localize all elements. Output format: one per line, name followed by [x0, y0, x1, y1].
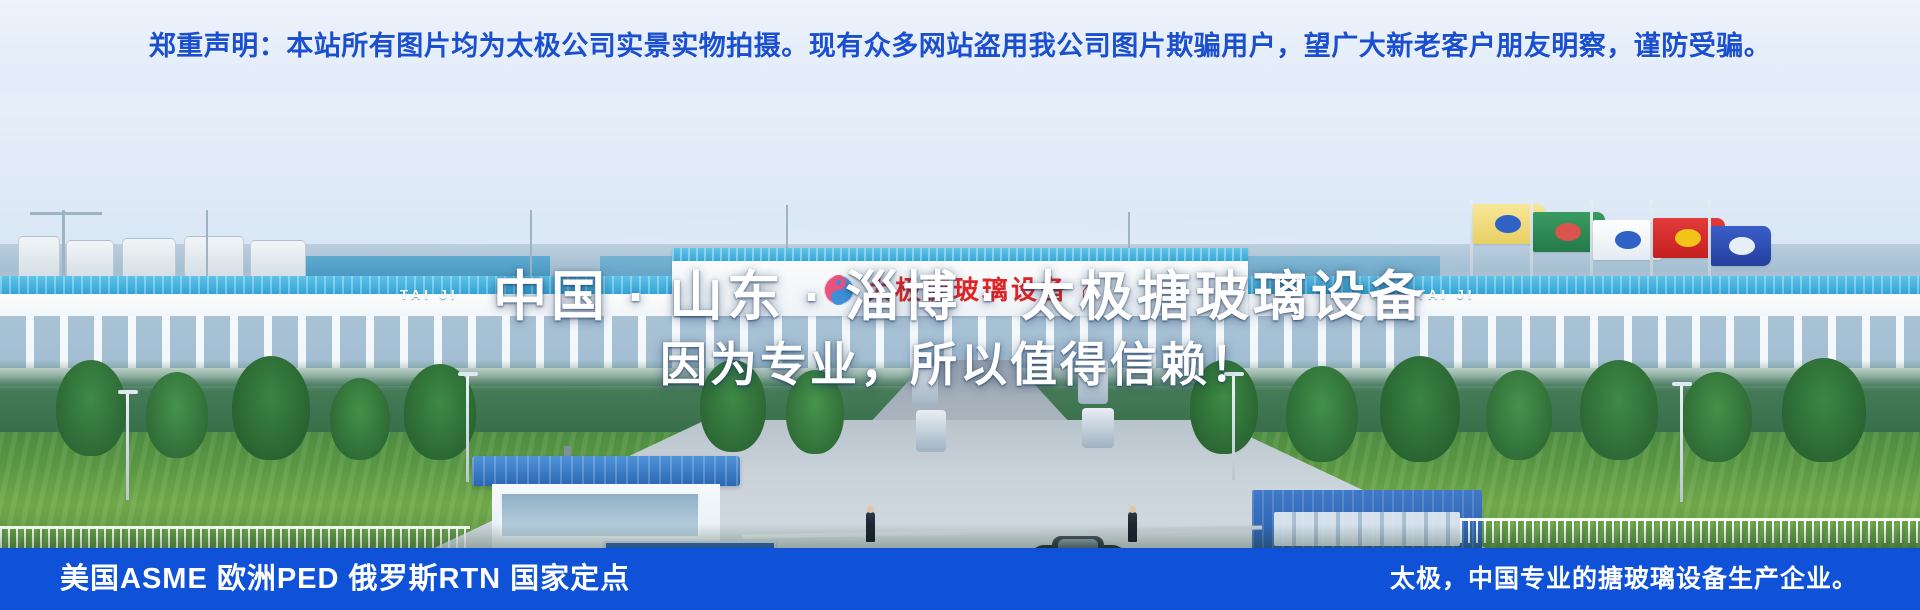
notice-strip: 郑重声明：本站所有图片均为太极公司实景实物拍摄。现有众多网站盗用我公司图片欺骗用… — [0, 0, 1920, 92]
company-sign-mark: ⌂ — [1081, 278, 1096, 303]
flag-emblem-5 — [1729, 237, 1755, 255]
pediment-roof-trim — [672, 248, 1248, 261]
banner-page: 太极搪玻璃设备 ⌂ TAI JI TAI JI — [0, 0, 1920, 610]
tree-right-5 — [1682, 372, 1752, 462]
tree-left-4 — [330, 378, 390, 460]
tree-right-1 — [1286, 366, 1358, 462]
factory-photo: 太极搪玻璃设备 ⌂ TAI JI TAI JI — [0, 60, 1920, 550]
photo-bottom-shade — [0, 524, 1920, 550]
yin-yang-taiji-logo — [824, 275, 854, 305]
truck-2 — [1082, 408, 1114, 448]
roof-label-right: TAI JI — [1417, 287, 1475, 302]
bottom-bar: 美国ASME 欧洲PED 俄罗斯RTN 国家定点 太极，中国专业的搪玻璃设备生产… — [0, 548, 1920, 610]
flag-emblem-3 — [1615, 231, 1641, 249]
street-lamp-1 — [466, 372, 469, 482]
tree-left-1 — [56, 360, 126, 456]
tree-right-6 — [1782, 358, 1866, 462]
certifications-text: 美国ASME 欧洲PED 俄罗斯RTN 国家定点 — [60, 565, 630, 594]
bus-1 — [912, 366, 938, 406]
building-pediment: 太极搪玻璃设备 ⌂ — [672, 248, 1248, 316]
company-sign: 太极搪玻璃设备 ⌂ — [672, 267, 1248, 313]
truck-1 — [1078, 360, 1108, 404]
notice-text: 郑重声明：本站所有图片均为太极公司实景实物拍摄。现有众多网站盗用我公司图片欺骗用… — [149, 33, 1772, 60]
yinyang-dot-lower — [836, 295, 841, 300]
tree-right-3 — [1486, 370, 1552, 460]
street-lamp-3 — [1680, 382, 1683, 502]
tree-left-2 — [146, 372, 208, 458]
tree-center-1 — [700, 360, 766, 452]
tree-center-2 — [786, 370, 844, 454]
crane-jib — [30, 212, 102, 215]
tree-left-3 — [232, 356, 310, 460]
bus-2 — [916, 410, 946, 452]
yinyang-dot-upper — [836, 280, 841, 285]
flag-blue — [1711, 226, 1771, 266]
street-lamp-4 — [126, 390, 129, 500]
tree-right-4 — [1580, 360, 1658, 460]
slogan-text: 太极，中国专业的搪玻璃设备生产企业。 — [1390, 567, 1858, 592]
gate-house-roof — [472, 456, 740, 486]
flag-emblem-4 — [1675, 229, 1701, 247]
tree-right-2 — [1380, 356, 1460, 462]
flag-emblem-1 — [1495, 215, 1521, 233]
street-lamp-2 — [1232, 372, 1235, 480]
company-sign-text: 太极搪玻璃设备 — [866, 277, 1069, 303]
roof-label-left: TAI JI — [400, 287, 458, 302]
flag-emblem-2 — [1555, 223, 1581, 241]
